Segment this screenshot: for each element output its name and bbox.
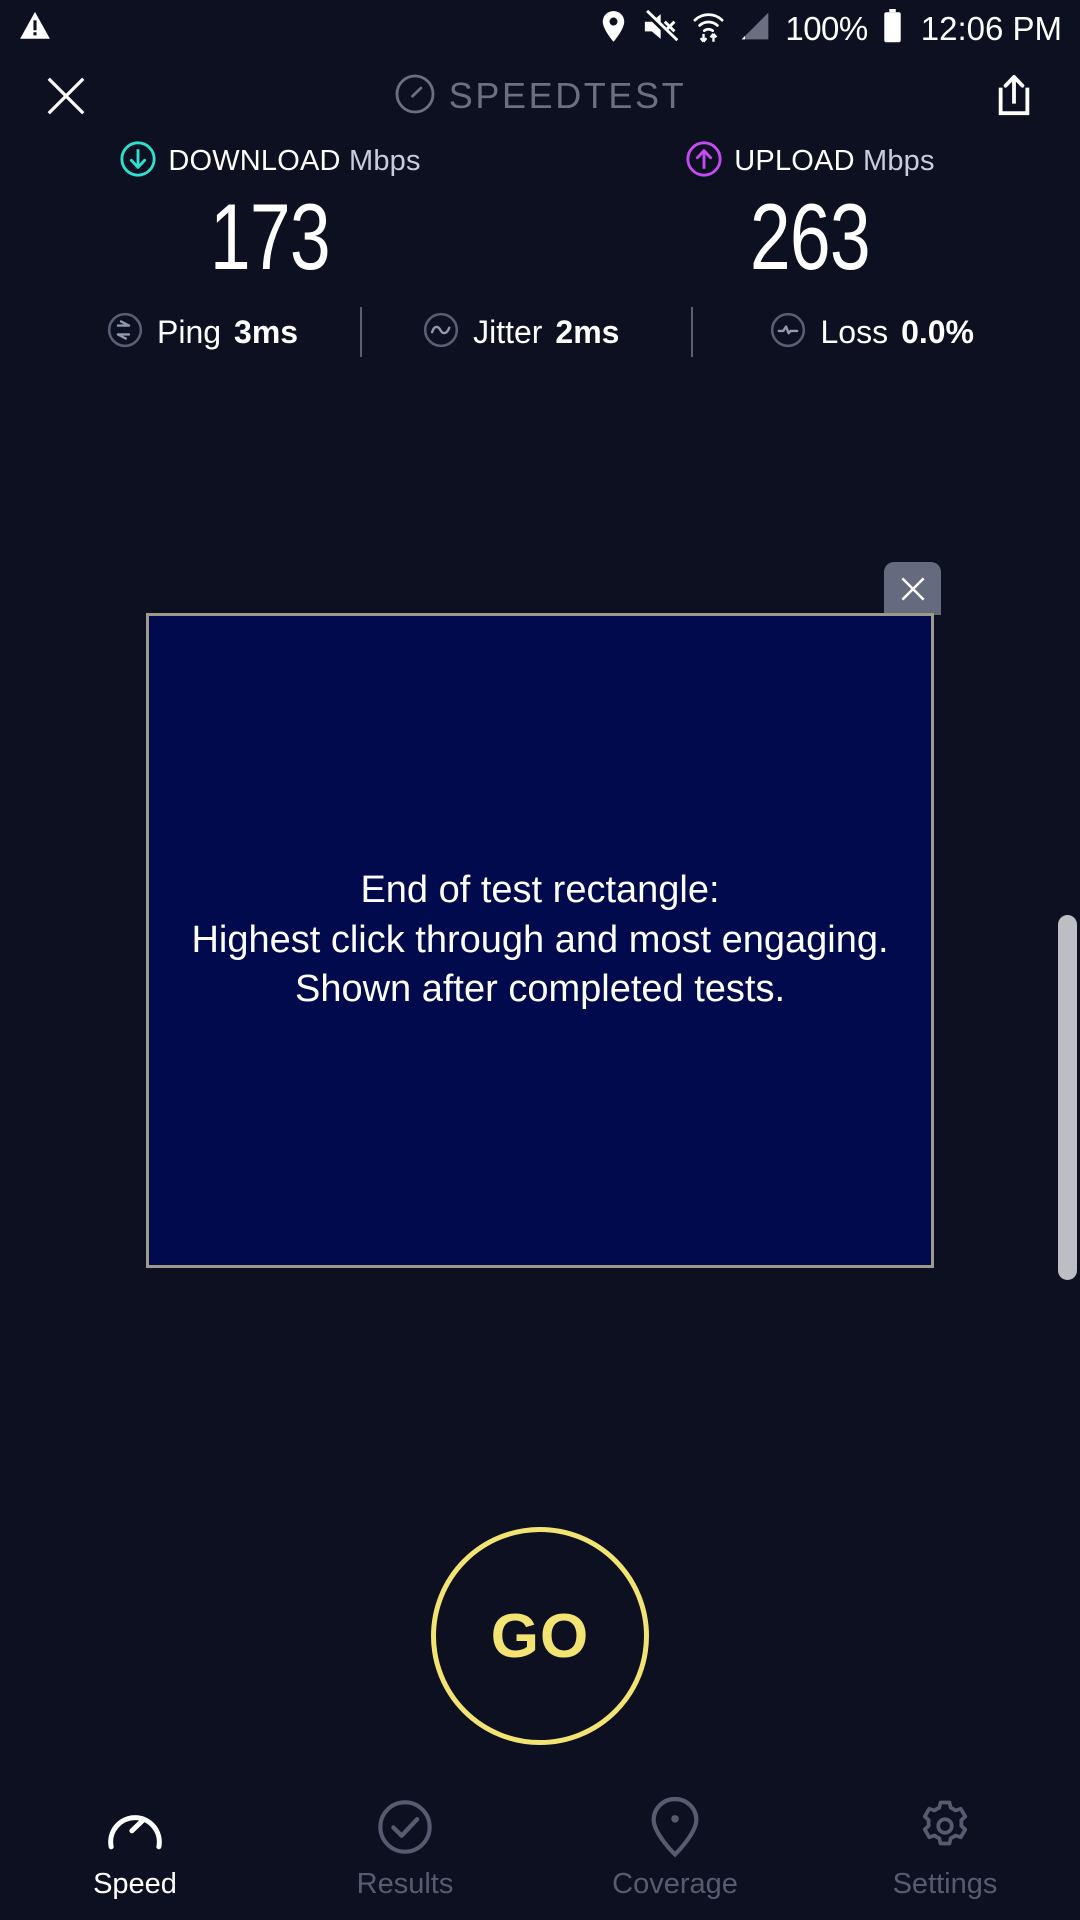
nav-label-speed: Speed: [93, 1868, 177, 1901]
share-icon: [993, 73, 1035, 119]
ping-value: 3ms: [234, 314, 298, 351]
brand-header: SPEEDTEST: [0, 57, 1080, 135]
advertisement-text: End of test rectangle: Highest click thr…: [191, 866, 888, 1014]
results-panel: DOWNLOAD Mbps 173 UPLOAD Mbps 263: [0, 138, 1080, 358]
close-icon: [43, 73, 89, 119]
upload-arrow-icon: [685, 140, 723, 183]
loss-value: 0.0%: [901, 314, 974, 351]
upload-result: UPLOAD Mbps 263: [540, 138, 1080, 284]
nav-label-results: Results: [357, 1868, 454, 1901]
download-result: DOWNLOAD Mbps 173: [0, 138, 540, 284]
ad-close-button[interactable]: [884, 562, 941, 615]
gear-icon: [915, 1798, 975, 1856]
metric-separator: [691, 307, 693, 357]
status-time: 12:06 PM: [921, 10, 1062, 48]
battery-full-icon: [882, 9, 903, 48]
loss-metric: Loss 0.0%: [769, 311, 974, 354]
app-title: SPEEDTEST: [449, 75, 686, 117]
advertisement-banner[interactable]: End of test rectangle: Highest click thr…: [146, 613, 934, 1268]
jitter-name: Jitter: [473, 314, 542, 351]
jitter-metric: Jitter 2ms: [422, 311, 619, 354]
speed-row: DOWNLOAD Mbps 173 UPLOAD Mbps 263: [0, 138, 1080, 284]
download-header: DOWNLOAD Mbps: [119, 138, 420, 184]
ping-name: Ping: [157, 314, 221, 351]
nav-item-speed[interactable]: Speed: [0, 1780, 270, 1920]
loss-name: Loss: [820, 314, 888, 351]
cellular-signal-icon: [739, 11, 771, 46]
app-header: SPEEDTEST: [0, 57, 1080, 135]
status-bar-left: [18, 9, 52, 48]
metrics-row: Ping 3ms Jitter 2ms Loss 0.0: [0, 306, 1080, 358]
go-button[interactable]: GO: [431, 1527, 649, 1745]
bottom-navigation: Speed Results Coverage Settings: [0, 1780, 1080, 1920]
location-pin-icon: [599, 10, 628, 48]
nav-item-coverage[interactable]: Coverage: [540, 1780, 810, 1920]
volume-muted-icon: [642, 10, 678, 48]
jitter-icon: [422, 311, 460, 354]
jitter-value: 2ms: [555, 314, 619, 351]
share-button[interactable]: [984, 66, 1044, 126]
warning-triangle-icon: [18, 9, 52, 48]
battery-percent-label: 100%: [785, 10, 867, 48]
upload-header: UPLOAD Mbps: [685, 138, 934, 184]
loss-icon: [769, 311, 807, 354]
page-scrollbar[interactable]: [1058, 915, 1077, 1280]
close-app-button[interactable]: [36, 66, 96, 126]
nav-label-coverage: Coverage: [612, 1868, 738, 1901]
close-icon: [898, 574, 928, 604]
status-bar-right: 100% 12:06 PM: [599, 9, 1062, 48]
speedometer-icon: [104, 1798, 166, 1856]
nav-item-results[interactable]: Results: [270, 1780, 540, 1920]
ping-metric: Ping 3ms: [106, 311, 298, 354]
upload-value: 263: [750, 190, 870, 284]
go-button-label: GO: [491, 1601, 589, 1672]
download-arrow-icon: [119, 140, 157, 183]
download-value: 173: [210, 190, 330, 284]
wifi-transfer-icon: [692, 9, 725, 48]
download-label: DOWNLOAD Mbps: [168, 145, 420, 178]
ping-icon: [106, 311, 144, 354]
upload-label: UPLOAD Mbps: [734, 145, 934, 178]
nav-item-settings[interactable]: Settings: [810, 1780, 1080, 1920]
nav-label-settings: Settings: [893, 1868, 998, 1901]
metric-separator: [360, 307, 362, 357]
check-circle-icon: [376, 1798, 434, 1856]
map-pin-icon: [650, 1798, 700, 1856]
status-bar: 100% 12:06 PM: [0, 0, 1080, 57]
speedometer-icon: [394, 73, 436, 120]
